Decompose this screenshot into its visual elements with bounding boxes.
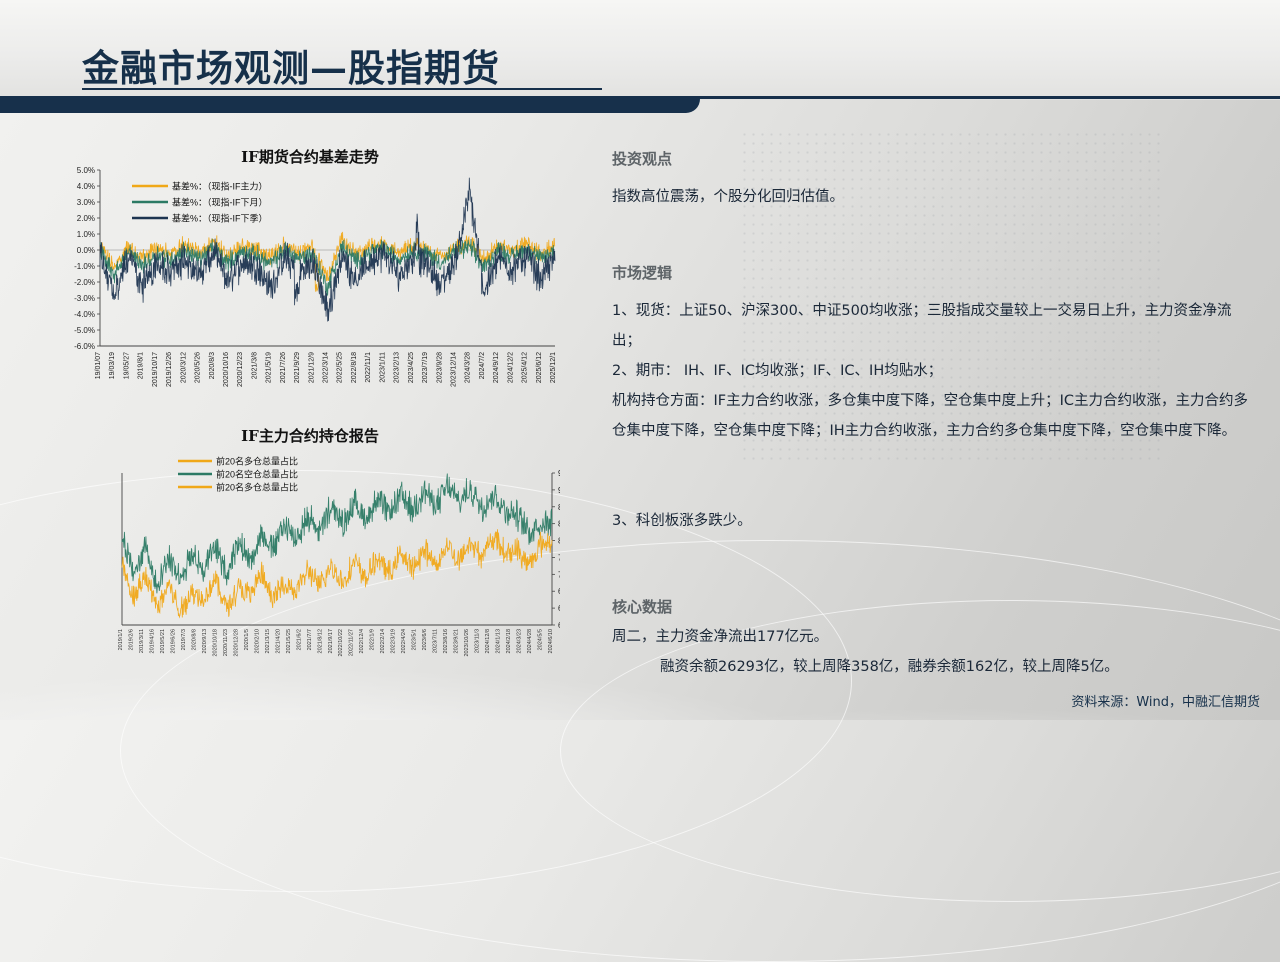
svg-text:2022/11/27: 2022/11/27	[349, 629, 355, 656]
svg-text:2020/11/23: 2020/11/23	[223, 629, 229, 656]
svg-text:2022/4/24: 2022/4/24	[401, 629, 407, 653]
svg-text:2021/3/8: 2021/3/8	[251, 352, 258, 379]
svg-text:3.0%: 3.0%	[77, 198, 95, 207]
svg-text:2020/9/13: 2020/9/13	[202, 629, 208, 653]
svg-text:2019/12/26: 2019/12/26	[166, 352, 173, 387]
svg-text:-4.0%: -4.0%	[74, 310, 95, 319]
svg-text:19/03/19: 19/03/19	[109, 352, 116, 379]
svg-text:2024/6/10: 2024/6/10	[548, 629, 554, 653]
svg-text:2022/5/25: 2022/5/25	[337, 352, 344, 383]
paragraph-core-1: 周二，主力资金净流出177亿元。	[612, 622, 1252, 652]
svg-text:5.0%: 5.0%	[77, 166, 95, 175]
svg-text:2023/7/11: 2023/7/11	[433, 629, 439, 653]
svg-text:2022/3/14: 2022/3/14	[323, 352, 330, 383]
svg-text:2023/12/14: 2023/12/14	[451, 352, 458, 387]
svg-text:2021/4/20: 2021/4/20	[275, 629, 281, 653]
svg-text:2023/2/13: 2023/2/13	[394, 352, 401, 383]
title-underline	[82, 88, 602, 90]
svg-text:2024/1/13: 2024/1/13	[496, 629, 502, 653]
svg-text:80%: 80%	[558, 537, 560, 546]
svg-text:84%: 84%	[558, 520, 560, 529]
svg-text:2020/10/18: 2020/10/18	[212, 629, 218, 657]
svg-text:2023/9/28: 2023/9/28	[436, 352, 443, 383]
svg-text:2021/9/17: 2021/9/17	[328, 629, 334, 653]
svg-text:1.0%: 1.0%	[77, 230, 95, 239]
svg-text:2021/12/9: 2021/12/9	[308, 352, 315, 383]
svg-text:2020/12/23: 2020/12/23	[237, 352, 244, 387]
svg-text:2.0%: 2.0%	[77, 214, 95, 223]
position-chart-svg: 96%92%88%84%80%76%72%68%64%60%前20名多仓总量占比…	[40, 447, 560, 697]
svg-text:2025/4/12: 2025/4/12	[522, 352, 529, 383]
slide: 金融市场观测—股指期货 IF期货合约基差走势 5.0%4.0%3.0%2.0%1…	[0, 0, 1280, 720]
svg-text:2019/1/1: 2019/1/1	[118, 629, 124, 650]
svg-text:19/05/27: 19/05/27	[123, 352, 130, 379]
svg-text:-6.0%: -6.0%	[74, 342, 95, 351]
svg-text:2021/6/2: 2021/6/2	[296, 629, 302, 650]
svg-text:2022/3/19: 2022/3/19	[391, 629, 397, 653]
paragraph-futures: 2、期市： IH、IF、IC均收涨；IF、IC、IH均贴水；	[612, 356, 1252, 386]
svg-text:基差%：（现指-IF下季）: 基差%：（现指-IF下季）	[172, 213, 268, 224]
svg-text:2022/2/14: 2022/2/14	[380, 629, 386, 653]
svg-text:2024/4/28: 2024/4/28	[527, 629, 533, 653]
svg-text:2019/8/1: 2019/8/1	[138, 352, 145, 379]
basis-chart-svg: 5.0%4.0%3.0%2.0%1.0%0.0%-1.0%-2.0%-3.0%-…	[40, 138, 560, 398]
svg-text:2020/12/28: 2020/12/28	[233, 629, 239, 657]
svg-text:基差%：（现指-IF主力）: 基差%：（现指-IF主力）	[172, 181, 268, 192]
svg-text:2021/5/19: 2021/5/19	[266, 352, 273, 383]
source-note: 资料来源：Wind，中融汇信期货	[1071, 691, 1260, 710]
svg-text:-2.0%: -2.0%	[74, 278, 95, 287]
paragraph-spot: 1、现货：上证50、沪深300、中证500均收涨；三股指成交量较上一交易日上升，…	[612, 296, 1252, 356]
position-chart-card: IF主力合约持仓报告 96%92%88%84%80%76%72%68%64%60…	[40, 425, 560, 685]
svg-text:2024/3/28: 2024/3/28	[465, 352, 472, 383]
svg-text:2019/2/6: 2019/2/6	[129, 629, 135, 650]
svg-text:2020/1/5: 2020/1/5	[244, 629, 250, 650]
paragraph-view: 指数高位震荡，个股分化回归估值。	[612, 182, 1252, 212]
svg-text:2025/12/1: 2025/12/1	[550, 352, 557, 383]
svg-text:2023/1/11: 2023/1/11	[379, 352, 386, 383]
svg-text:2024/12/2: 2024/12/2	[507, 352, 514, 383]
svg-text:2022/8/18: 2022/8/18	[351, 352, 358, 383]
svg-text:前20名空仓总量占比: 前20名空仓总量占比	[216, 469, 298, 480]
svg-text:2020/3/12: 2020/3/12	[180, 352, 187, 383]
svg-text:72%: 72%	[558, 570, 560, 579]
svg-text:2024/3/23: 2024/3/23	[517, 629, 523, 653]
svg-text:前20名多仓总量占比: 前20名多仓总量占比	[216, 456, 298, 467]
section-heading-logic: 市场逻辑	[612, 262, 672, 283]
svg-text:92%: 92%	[558, 486, 560, 495]
svg-text:2021/8/12: 2021/8/12	[317, 629, 323, 653]
position-chart-title: IF主力合约持仓报告	[160, 425, 460, 446]
paragraph-core-2: 融资余额26293亿，较上周降358亿，融券余额162亿，较上周降5亿。	[660, 652, 1260, 682]
svg-text:2019/6/26: 2019/6/26	[170, 629, 176, 653]
svg-text:0.0%: 0.0%	[77, 246, 95, 255]
svg-text:19/01/07: 19/01/07	[95, 352, 102, 379]
svg-text:2025/6/12: 2025/6/12	[536, 352, 543, 383]
svg-text:2019/5/21: 2019/5/21	[160, 629, 166, 653]
header-tab	[0, 99, 700, 113]
svg-text:60%: 60%	[558, 621, 560, 630]
svg-text:2022/1/9: 2022/1/9	[370, 629, 376, 650]
svg-text:2024/2/18: 2024/2/18	[506, 629, 512, 653]
svg-text:2023/11/3: 2023/11/3	[475, 629, 481, 653]
section-heading-core-data: 核心数据	[612, 596, 672, 617]
svg-text:-1.0%: -1.0%	[74, 262, 95, 271]
svg-text:2021/3/15: 2021/3/15	[265, 629, 271, 653]
svg-text:基差%：（现指-IF下月）: 基差%：（现指-IF下月）	[172, 197, 268, 208]
svg-text:2019/7/3: 2019/7/3	[181, 629, 187, 650]
svg-text:2020/2/10: 2020/2/10	[254, 629, 260, 653]
svg-text:2019/4/16: 2019/4/16	[150, 629, 156, 653]
svg-text:前20名多仓总量占比: 前20名多仓总量占比	[216, 482, 298, 493]
svg-text:2023/7/19: 2023/7/19	[422, 352, 429, 383]
svg-text:2020/8/3: 2020/8/3	[209, 352, 216, 379]
svg-text:2021/9/29: 2021/9/29	[294, 352, 301, 383]
svg-text:2021/7/26: 2021/7/26	[280, 352, 287, 383]
svg-text:2024/5/5: 2024/5/5	[538, 629, 544, 650]
page-title: 金融市场观测—股指期货	[82, 38, 500, 92]
svg-text:2023/9/21: 2023/9/21	[454, 629, 460, 653]
svg-text:2022/10/22: 2022/10/22	[338, 629, 344, 657]
svg-text:2023/6/6: 2023/6/6	[422, 629, 428, 650]
svg-text:2022/11/1: 2022/11/1	[365, 352, 372, 383]
svg-text:2019/3/11: 2019/3/11	[139, 629, 145, 653]
svg-text:96%: 96%	[558, 469, 560, 478]
svg-text:2019/10/17: 2019/10/17	[152, 352, 159, 387]
svg-text:4.0%: 4.0%	[77, 182, 95, 191]
svg-text:68%: 68%	[558, 587, 560, 596]
basis-chart-card: IF期货合约基差走势 5.0%4.0%3.0%2.0%1.0%0.0%-1.0%…	[40, 138, 560, 398]
svg-text:2023/10/26: 2023/10/26	[464, 629, 470, 657]
svg-text:2020/5/26: 2020/5/26	[195, 352, 202, 383]
paragraph-star-board: 3、科创板涨多跌少。	[612, 506, 1252, 536]
svg-text:64%: 64%	[558, 604, 560, 613]
svg-text:2021/5/25: 2021/5/25	[286, 629, 292, 653]
svg-text:2024/9/12: 2024/9/12	[493, 352, 500, 383]
svg-text:2024/12/8: 2024/12/8	[485, 629, 491, 653]
svg-text:2023/4/25: 2023/4/25	[408, 352, 415, 383]
svg-text:2021/7/7: 2021/7/7	[307, 629, 313, 650]
svg-text:76%: 76%	[558, 553, 560, 562]
svg-text:-3.0%: -3.0%	[74, 294, 95, 303]
svg-text:2024/7/2: 2024/7/2	[479, 352, 486, 379]
svg-text:2020/10/16: 2020/10/16	[223, 352, 230, 387]
section-heading-view: 投资观点	[612, 148, 672, 169]
basis-chart-title: IF期货合约基差走势	[170, 146, 450, 167]
svg-text:2022/12/4: 2022/12/4	[359, 629, 365, 653]
svg-text:88%: 88%	[558, 503, 560, 512]
svg-text:2020/8/8: 2020/8/8	[191, 629, 197, 650]
svg-text:-5.0%: -5.0%	[74, 326, 95, 335]
svg-text:2023/8/16: 2023/8/16	[443, 629, 449, 653]
svg-text:2023/5/1: 2023/5/1	[412, 629, 418, 650]
paragraph-institution: 机构持仓方面：IF主力合约收涨，多仓集中度下降，空仓集中度上升；IC主力合约收涨…	[612, 386, 1258, 446]
